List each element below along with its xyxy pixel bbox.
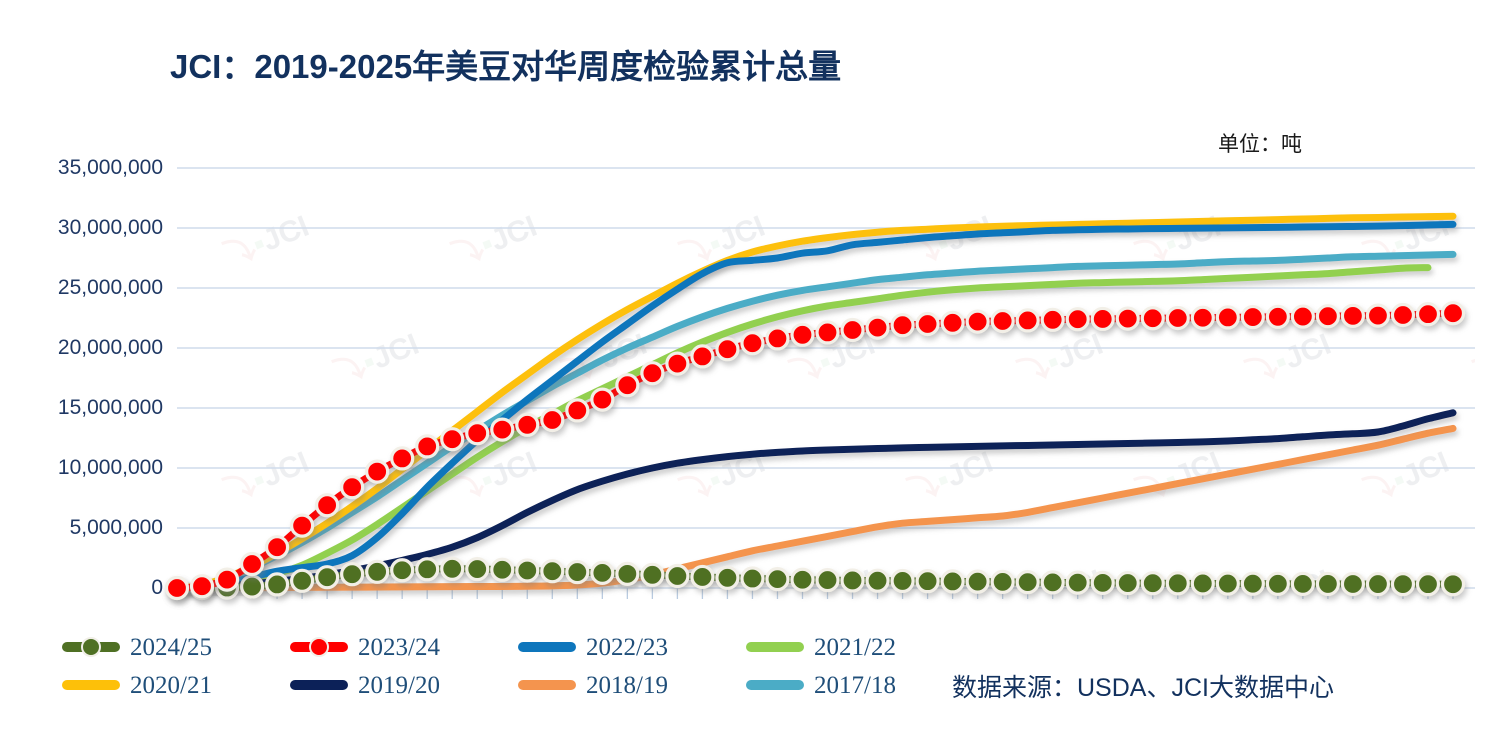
legend-label: 2020/21 [130,673,212,698]
legend-item-2017-18[interactable]: 2017/18 [744,666,972,704]
legend-line-icon [746,642,804,652]
legend-swatch-icon [516,636,578,658]
plot-area [177,168,1475,588]
legend-line-icon [746,680,804,690]
legend-swatch-icon [60,674,122,696]
legend-label: 2022/23 [586,635,668,660]
legend-label: 2023/24 [358,635,440,660]
y-axis-tick-label: 0 [0,576,163,600]
legend-label: 2018/19 [586,673,668,698]
y-axis-tick-label: 35,000,000 [0,156,163,180]
chart-legend[interactable]: 2024/252023/242022/232021/222020/212019/… [60,628,990,704]
legend-item-2018-19[interactable]: 2018/19 [516,666,744,704]
y-axis-tick-label: 15,000,000 [0,396,163,420]
unit-label: 单位：吨 [1218,128,1302,158]
legend-swatch-icon [744,636,806,658]
legend-marker-icon [81,637,101,657]
y-axis-tick-label: 10,000,000 [0,456,163,480]
legend-line-icon [290,680,348,690]
y-axis-labels: 35,000,00030,000,00025,000,00020,000,000… [0,0,163,729]
y-axis-tick-label: 25,000,000 [0,276,163,300]
legend-label: 2019/20 [358,673,440,698]
legend-swatch-icon [288,674,350,696]
legend-item-2019-20[interactable]: 2019/20 [288,666,516,704]
legend-line-icon [518,680,576,690]
legend-marker-icon [309,637,329,657]
legend-swatch-icon [288,636,350,658]
legend-swatch-icon [516,674,578,696]
page-title: JCI：2019-2025年美豆对华周度检验累计总量 [170,40,841,88]
y-axis-tick-label: 5,000,000 [0,516,163,540]
legend-label: 2017/18 [814,673,896,698]
y-axis-tick-label: 30,000,000 [0,216,163,240]
chart-root: JCI：2019-2025年美豆对华周度检验累计总量 单位：吨 35,000,0… [0,0,1501,729]
legend-item-2023-24[interactable]: 2023/24 [288,628,516,666]
legend-label: 2024/25 [130,635,212,660]
legend-item-2024-25[interactable]: 2024/25 [60,628,288,666]
source-note: 数据来源：USDA、JCI大数据中心 [952,668,1334,704]
legend-swatch-icon [60,636,122,658]
legend-item-2022-23[interactable]: 2022/23 [516,628,744,666]
legend-item-2021-22[interactable]: 2021/22 [744,628,972,666]
chart-canvas [177,168,1475,588]
legend-swatch-icon [744,674,806,696]
legend-line-icon [518,642,576,652]
legend-item-2020-21[interactable]: 2020/21 [60,666,288,704]
legend-line-icon [62,680,120,690]
legend-label: 2021/22 [814,635,896,660]
y-axis-tick-label: 20,000,000 [0,336,163,360]
